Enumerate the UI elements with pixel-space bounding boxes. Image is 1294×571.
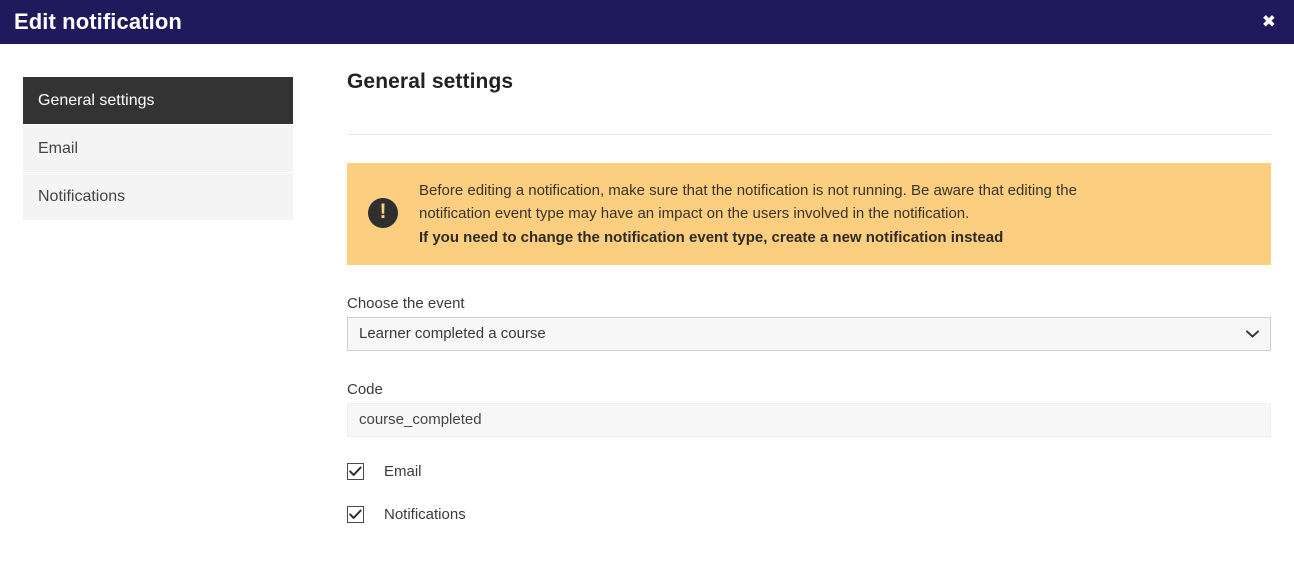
exclamation-circle-icon: ! [368,198,398,228]
event-select-value: Learner completed a course [359,325,546,342]
sidebar-item-label: Email [38,140,78,158]
dialog-title: Edit notification [0,11,182,33]
checkbox-label-notifications: Notifications [384,506,466,523]
event-select[interactable]: Learner completed a course [347,317,1271,351]
warning-alert: ! Before editing a notification, make su… [347,163,1271,265]
settings-sidebar: General settings Email Notifications [23,77,293,221]
dialog-body: General settings Email Notifications Gen… [0,44,1294,571]
checkbox-label-email: Email [384,463,422,480]
event-field-group: Choose the event Learner completed a cou… [347,295,1271,351]
dialog-titlebar: Edit notification ✖ [0,0,1294,44]
exclamation-glyph: ! [380,201,387,222]
alert-text: Before editing a notification, make sure… [419,177,1077,249]
code-field-label: Code [347,381,1271,398]
checkbox-email[interactable] [347,463,364,480]
checkbox-row-email[interactable]: Email [347,463,1271,480]
code-input[interactable]: course_completed [347,403,1271,437]
sidebar-item-notifications[interactable]: Notifications [23,173,293,221]
sidebar-item-label: Notifications [38,188,125,206]
title-divider [347,134,1271,135]
code-field-group: Code course_completed [347,381,1271,437]
sidebar-item-email[interactable]: Email [23,125,293,173]
alert-line-2: notification event type may have an impa… [419,202,1077,225]
event-select-wrap: Learner completed a course [347,317,1271,351]
sidebar-item-label: General settings [38,92,155,110]
sidebar-item-general-settings[interactable]: General settings [23,77,293,125]
alert-icon-wrap: ! [347,198,419,228]
alert-line-3-bold: If you need to change the notification e… [419,226,1077,249]
checkbox-row-notifications[interactable]: Notifications [347,506,1271,523]
checkbox-notifications[interactable] [347,506,364,523]
code-input-value: course_completed [359,411,482,428]
settings-main-panel: General settings ! Before editing a noti… [347,44,1271,523]
close-icon[interactable]: ✖ [1244,14,1294,31]
alert-line-1: Before editing a notification, make sure… [419,179,1077,202]
event-field-label: Choose the event [347,295,1271,312]
page-title: General settings [347,44,1271,94]
